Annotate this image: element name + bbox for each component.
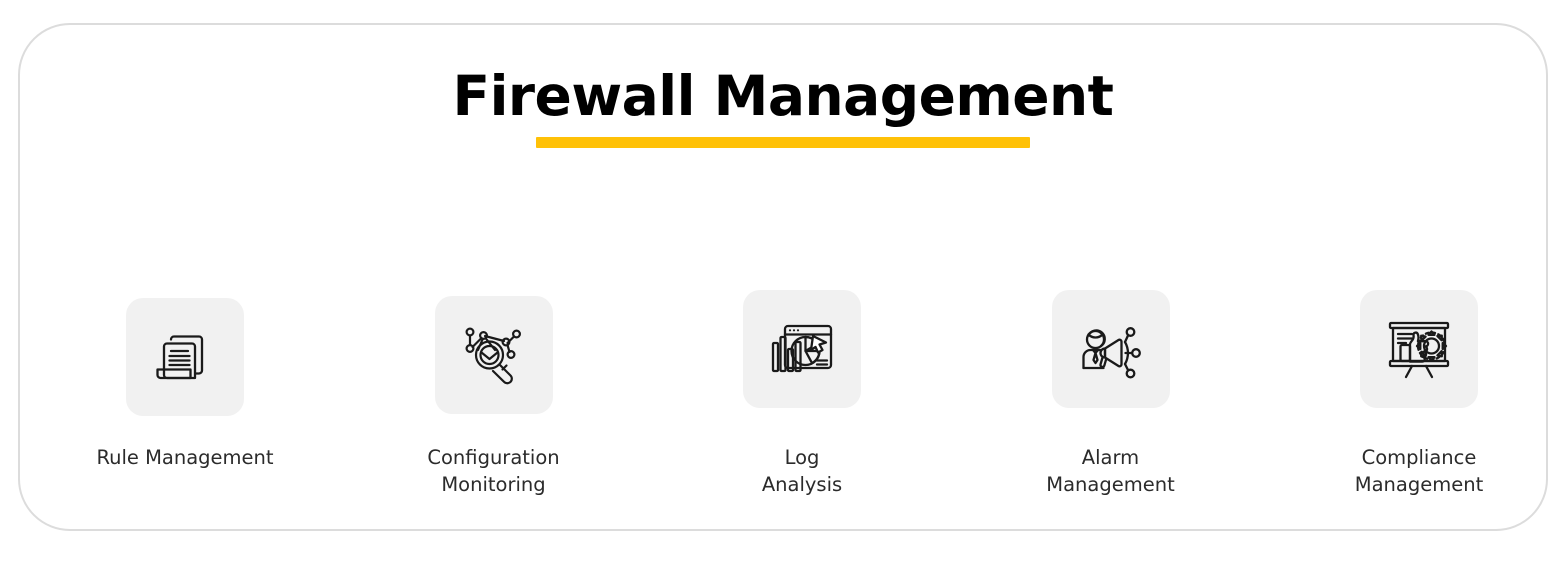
- magnifier-network-icon: [461, 322, 527, 388]
- slide-canvas: Firewall Management: [0, 0, 1564, 566]
- presentation-board-gear-thumbsup-icon: [1386, 316, 1452, 382]
- feature-tile-alarm-management[interactable]: [1052, 290, 1170, 408]
- feature-item-rule-management[interactable]: Rule Management: [60, 290, 310, 471]
- megaphone-person-network-icon: [1078, 316, 1144, 382]
- firewall-management-card: Firewall Management: [18, 23, 1548, 531]
- feature-item-alarm-management[interactable]: Alarm Management: [986, 290, 1236, 498]
- feature-item-compliance-management[interactable]: Compliance Management: [1294, 290, 1544, 498]
- feature-item-log-analysis[interactable]: Log Analysis: [677, 290, 927, 498]
- page-title: Firewall Management: [20, 69, 1546, 124]
- title-underline-accent: [536, 137, 1030, 148]
- feature-row: Rule Management: [60, 290, 1544, 498]
- feature-tile-compliance-management[interactable]: [1360, 290, 1478, 408]
- header: Firewall Management: [20, 69, 1546, 148]
- feature-tile-rule-management[interactable]: [126, 298, 244, 416]
- documents-stack-icon: [153, 325, 217, 389]
- feature-label-compliance-management: Compliance Management: [1355, 444, 1483, 498]
- feature-item-configuration-monitoring[interactable]: Configuration Monitoring: [369, 290, 619, 498]
- feature-label-rule-management: Rule Management: [96, 444, 273, 471]
- feature-tile-configuration-monitoring[interactable]: [435, 296, 553, 414]
- feature-label-alarm-management: Alarm Management: [1046, 444, 1174, 498]
- feature-label-log-analysis: Log Analysis: [762, 444, 842, 498]
- feature-tile-log-analysis[interactable]: [743, 290, 861, 408]
- feature-label-configuration-monitoring: Configuration Monitoring: [427, 444, 559, 498]
- browser-charts-icon: [769, 316, 835, 382]
